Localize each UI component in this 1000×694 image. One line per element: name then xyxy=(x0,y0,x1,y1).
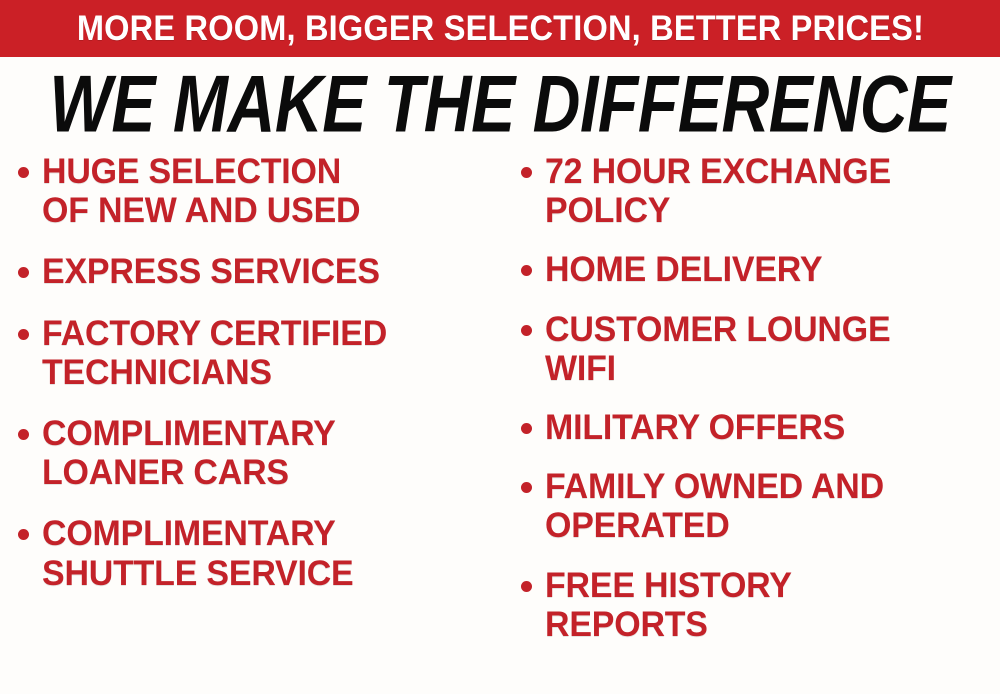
list-item: 72 HOUR EXCHANGE POLICY xyxy=(521,152,992,230)
benefit-text: HOME DELIVERY xyxy=(545,250,822,289)
bullet-dot-icon xyxy=(18,167,29,178)
benefit-text: CUSTOMER LOUNGE WIFI xyxy=(545,310,890,388)
bullet-dot-icon xyxy=(521,265,532,276)
benefit-line-1: 72 HOUR EXCHANGE xyxy=(545,152,891,191)
benefit-line-1: COMPLIMENTARY xyxy=(42,514,336,553)
list-item: HOME DELIVERY xyxy=(521,250,992,289)
benefit-text: FREE HISTORY REPORTS xyxy=(545,566,792,644)
bullet-dot-icon xyxy=(521,325,532,336)
benefit-line-1: CUSTOMER LOUNGE xyxy=(545,310,890,349)
list-item: COMPLIMENTARY SHUTTLE SERVICE xyxy=(18,514,490,592)
bullet-dot-icon xyxy=(521,482,532,493)
benefit-text: EXPRESS SERVICES xyxy=(42,252,380,291)
benefit-line-2: SHUTTLE SERVICE xyxy=(42,554,354,593)
benefit-text: 72 HOUR EXCHANGE POLICY xyxy=(545,152,891,230)
list-item: COMPLIMENTARY LOANER CARS xyxy=(18,414,490,492)
list-item: EXPRESS SERVICES xyxy=(18,252,490,291)
list-item: FREE HISTORY REPORTS xyxy=(521,566,992,644)
benefit-line-1: MILITARY OFFERS xyxy=(545,408,845,447)
benefit-text: COMPLIMENTARY SHUTTLE SERVICE xyxy=(42,514,354,592)
benefit-line-2: WIFI xyxy=(545,349,616,388)
benefit-line-2: OF NEW AND USED xyxy=(42,191,360,230)
bullet-dot-icon xyxy=(18,429,29,440)
bullet-dot-icon xyxy=(18,329,29,340)
benefit-line-1: COMPLIMENTARY xyxy=(42,414,336,453)
benefit-line-1: FACTORY CERTIFIED xyxy=(42,314,387,353)
benefits-list-right: 72 HOUR EXCHANGE POLICY HOME DELIVERY CU… xyxy=(521,152,992,644)
benefit-line-1: FAMILY OWNED AND xyxy=(545,467,884,506)
top-banner-text: MORE ROOM, BIGGER SELECTION, BETTER PRIC… xyxy=(76,11,923,46)
list-item: FAMILY OWNED AND OPERATED xyxy=(521,467,992,545)
benefits-columns: HUGE SELECTION OF NEW AND USED EXPRESS S… xyxy=(0,152,1000,694)
benefit-line-2: TECHNICIANS xyxy=(42,353,272,392)
bullet-dot-icon xyxy=(18,529,29,540)
benefit-line-1: HOME DELIVERY xyxy=(545,250,822,289)
benefits-column-right: 72 HOUR EXCHANGE POLICY HOME DELIVERY CU… xyxy=(500,152,1000,694)
benefit-line-2: REPORTS xyxy=(545,605,708,644)
benefit-line-2: OPERATED xyxy=(545,506,730,545)
benefits-list-left: HUGE SELECTION OF NEW AND USED EXPRESS S… xyxy=(18,152,490,593)
bullet-dot-icon xyxy=(521,581,532,592)
list-item: CUSTOMER LOUNGE WIFI xyxy=(521,310,992,388)
bullet-dot-icon xyxy=(521,423,532,434)
list-item: HUGE SELECTION OF NEW AND USED xyxy=(18,152,490,230)
benefits-column-left: HUGE SELECTION OF NEW AND USED EXPRESS S… xyxy=(0,152,500,694)
benefit-line-1: EXPRESS SERVICES xyxy=(42,252,380,291)
benefit-line-1: HUGE SELECTION xyxy=(42,152,341,191)
benefit-line-2: POLICY xyxy=(545,191,670,230)
benefit-text: HUGE SELECTION OF NEW AND USED xyxy=(42,152,360,230)
benefit-text: FAMILY OWNED AND OPERATED xyxy=(545,467,884,545)
top-banner: MORE ROOM, BIGGER SELECTION, BETTER PRIC… xyxy=(0,0,1000,57)
promotional-poster: MORE ROOM, BIGGER SELECTION, BETTER PRIC… xyxy=(0,0,1000,694)
bullet-dot-icon xyxy=(18,267,29,278)
list-item: MILITARY OFFERS xyxy=(521,408,992,447)
benefit-text: COMPLIMENTARY LOANER CARS xyxy=(42,414,336,492)
page-title: WE MAKE THE DIFFERENCE xyxy=(49,65,950,146)
bullet-dot-icon xyxy=(521,167,532,178)
benefit-line-2: LOANER CARS xyxy=(42,453,289,492)
benefit-line-1: FREE HISTORY xyxy=(545,566,792,605)
benefit-text: MILITARY OFFERS xyxy=(545,408,845,447)
headline-container: WE MAKE THE DIFFERENCE xyxy=(0,64,1000,146)
benefit-text: FACTORY CERTIFIED TECHNICIANS xyxy=(42,314,387,392)
list-item: FACTORY CERTIFIED TECHNICIANS xyxy=(18,314,490,392)
